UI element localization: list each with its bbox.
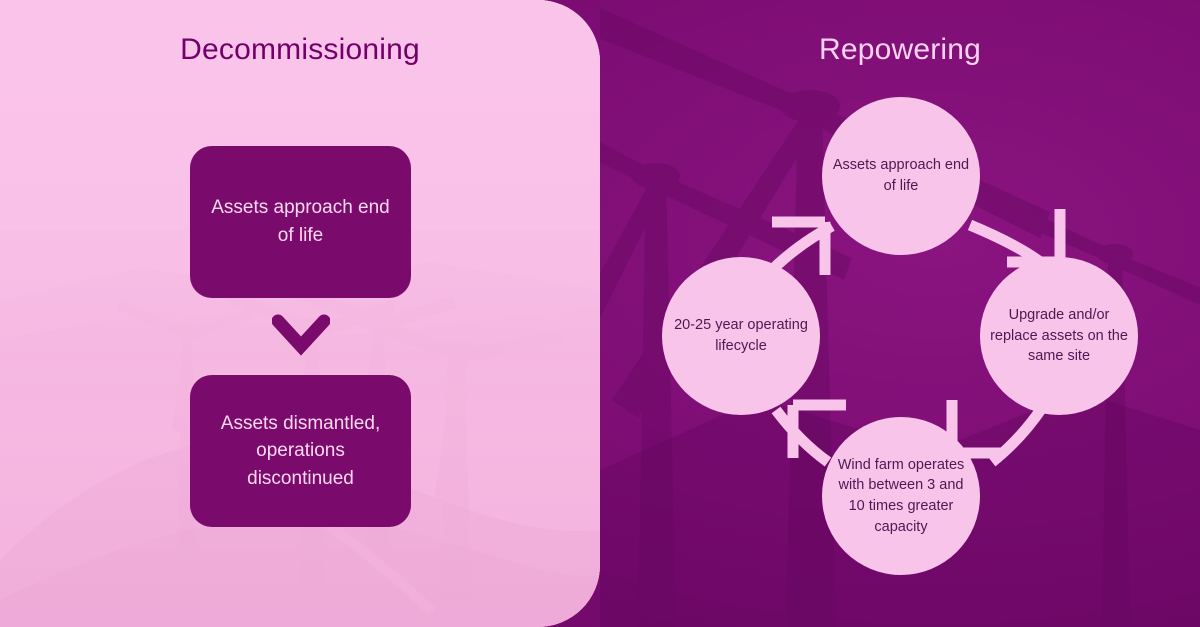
- arrow-path-bottom-left: [776, 410, 828, 462]
- infographic-canvas: Repowering: [0, 0, 1200, 627]
- cycle-node-assets-end-of-life[interactable]: Assets approach end of life: [822, 97, 980, 255]
- decommissioning-step-2[interactable]: Assets dismantled, operations discontinu…: [190, 375, 411, 527]
- cycle-node-greater-capacity[interactable]: Wind farm operates with between 3 and 10…: [822, 417, 980, 575]
- decommissioning-title: Decommissioning: [0, 33, 600, 67]
- repowering-cycle: Assets approach end of life Upgrade and/…: [600, 0, 1200, 627]
- chevron-down-icon: [272, 313, 330, 359]
- cycle-node-upgrade-replace[interactable]: Upgrade and/or replace assets on the sam…: [980, 257, 1138, 415]
- decommissioning-step-1[interactable]: Assets approach end of life: [190, 146, 411, 298]
- cycle-node-operating-lifecycle[interactable]: 20-25 year operating lifecycle: [662, 257, 820, 415]
